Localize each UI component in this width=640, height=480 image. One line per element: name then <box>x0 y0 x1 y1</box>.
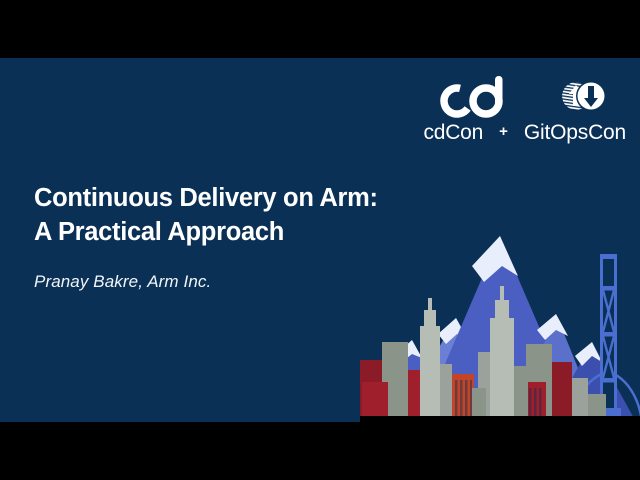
letterbox-top <box>0 0 640 58</box>
conference-logo-lockup: cdCon + GitOpsCon <box>423 72 626 143</box>
talk-title: Continuous Delivery on Arm: A Practical … <box>34 182 454 250</box>
logo-separator-plus: + <box>499 124 508 141</box>
presentation-slide: cdCon + GitOpsCon Continuous Delivery on… <box>0 58 640 422</box>
title-block: Continuous Delivery on Arm: A Practical … <box>34 182 454 292</box>
gitops-sync-arrows-icon <box>555 73 611 119</box>
cd-wordmark-icon <box>439 73 513 119</box>
talk-speaker: Pranay Bakre, Arm Inc. <box>34 272 454 292</box>
letterbox-bottom <box>0 422 640 480</box>
gitopscon-label: GitOpsCon <box>524 122 626 143</box>
video-frame: cdCon + GitOpsCon Continuous Delivery on… <box>0 0 640 480</box>
cdcon-label: cdCon <box>423 122 483 143</box>
logo-names-row: cdCon + GitOpsCon <box>423 122 626 143</box>
logo-marks-row <box>439 72 611 120</box>
